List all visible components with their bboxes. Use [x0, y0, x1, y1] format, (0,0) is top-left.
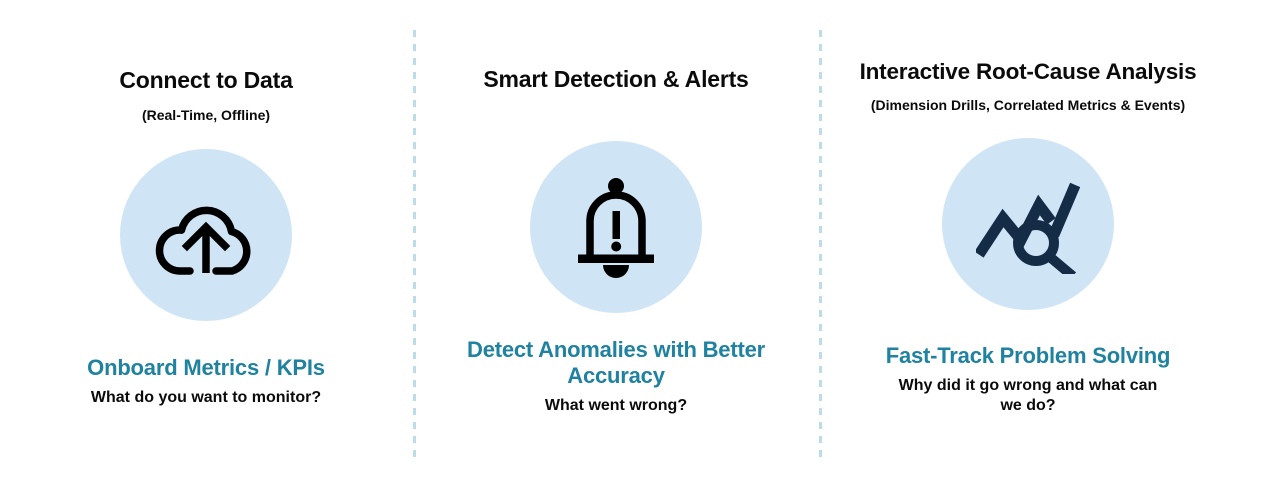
caption-heading: Onboard Metrics / KPIs [87, 355, 325, 382]
icon-badge-alert-bell [530, 141, 702, 313]
column-title: Connect to Data [119, 67, 292, 95]
step-column-smart-detection: Smart Detection & Alerts D [441, 0, 791, 488]
step-column-root-cause-analysis: Interactive Root-Cause Analysis (Dimensi… [848, 0, 1208, 488]
column-subtitle: (Dimension Drills, Correlated Metrics & … [871, 97, 1185, 114]
column-subtitle: (Real-Time, Offline) [142, 107, 270, 124]
icon-badge-trend-search [942, 138, 1114, 310]
column-divider-2 [819, 30, 822, 460]
column-divider-1 [413, 30, 416, 460]
cloud-upload-icon [154, 187, 258, 283]
trend-search-icon [976, 174, 1080, 274]
caption-heading: Detect Anomalies with Better Accuracy [441, 337, 791, 391]
three-step-infographic: Connect to Data (Real-Time, Offline) Onb… [0, 0, 1279, 488]
column-title: Interactive Root-Cause Analysis [860, 58, 1197, 85]
alert-bell-icon [570, 175, 662, 279]
step-column-connect-to-data: Connect to Data (Real-Time, Offline) Onb… [26, 0, 386, 488]
caption-question: What went wrong? [545, 396, 687, 417]
icon-badge-cloud-upload [120, 149, 292, 321]
caption-heading: Fast-Track Problem Solving [886, 343, 1171, 370]
column-title: Smart Detection & Alerts [483, 66, 748, 94]
caption-question: Why did it go wrong and what can we do? [888, 376, 1168, 418]
caption-question: What do you want to monitor? [91, 388, 321, 409]
